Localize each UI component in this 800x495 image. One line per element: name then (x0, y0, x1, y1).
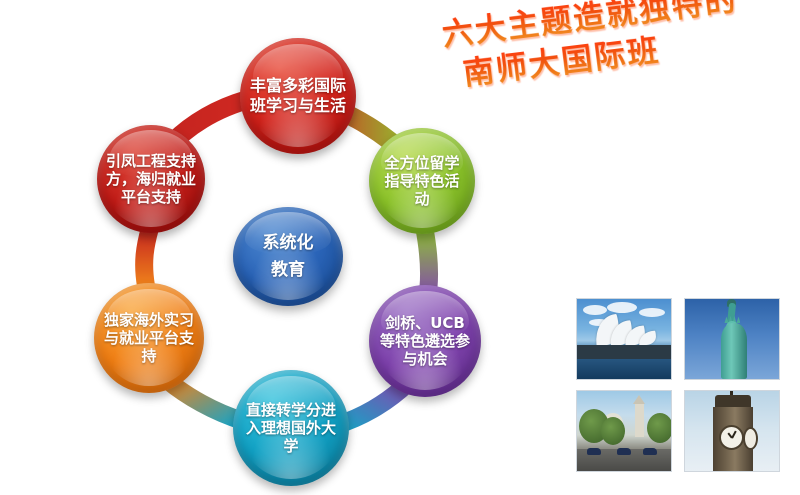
theme-node-lower-right[interactable]: 剑桥、UCB等特色遴选参与机会 (369, 285, 481, 397)
photo-grid (576, 298, 780, 474)
sydney-opera-house-photo (576, 298, 672, 380)
center-node-line-2: 教育 (271, 260, 305, 280)
theme-node-upper-left-label: 引凤工程支持方，海归就业平台支持 (97, 152, 205, 207)
statue-of-liberty-photo (684, 298, 780, 380)
center-node-label: 系统化 教育 (254, 230, 323, 283)
center-node[interactable]: 系统化 教育 (233, 207, 343, 306)
center-node-line-1: 系统化 (263, 233, 314, 253)
theme-node-top-label: 丰富多彩国际班学习与生活 (240, 76, 356, 115)
theme-node-bottom[interactable]: 直接转学分进入理想国外大学 (233, 370, 349, 486)
theme-node-top[interactable]: 丰富多彩国际班学习与生活 (240, 38, 356, 154)
big-ben-photo (684, 390, 780, 472)
theme-node-lower-left[interactable]: 独家海外实习与就业平台支持 (94, 283, 204, 393)
infographic-canvas: 六大主题造就独特的 南师大国际班 丰富多彩国际班学习与生活 全方位留学指导特色活… (0, 0, 800, 495)
theme-node-lower-right-label: 剑桥、UCB等特色遴选参与机会 (369, 314, 481, 369)
theme-node-bottom-label: 直接转学分进入理想国外大学 (233, 401, 349, 456)
theme-node-lower-left-label: 独家海外实习与就业平台支持 (94, 311, 204, 366)
theme-node-upper-left[interactable]: 引凤工程支持方，海归就业平台支持 (97, 125, 205, 233)
campus-street-photo (576, 390, 672, 472)
theme-node-upper-right-label: 全方位留学指导特色活动 (369, 154, 475, 209)
theme-node-upper-right[interactable]: 全方位留学指导特色活动 (369, 128, 475, 234)
